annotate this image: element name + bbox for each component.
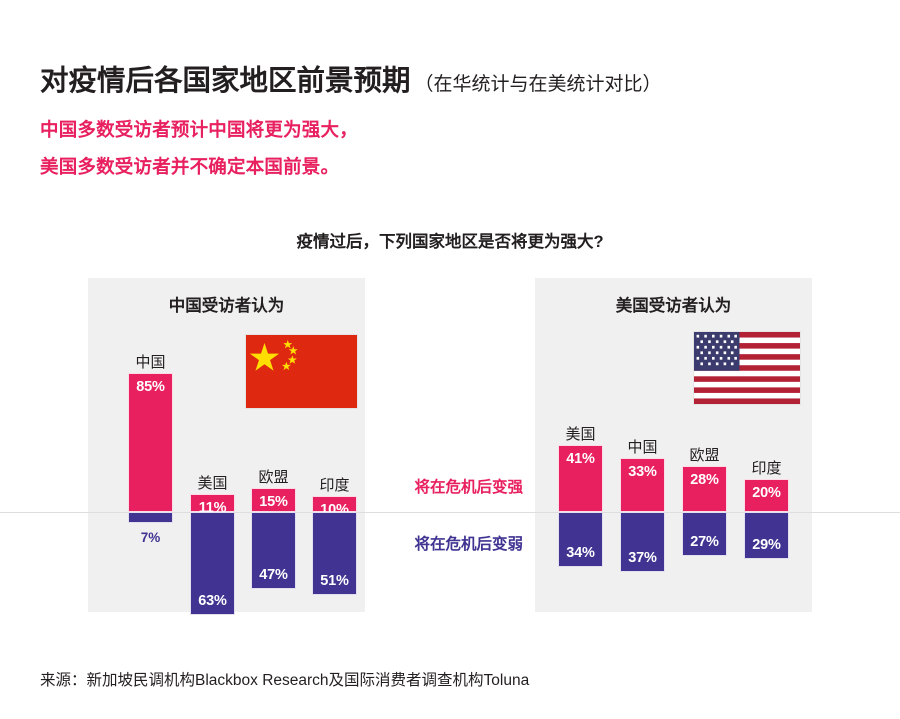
- bar-value-weaker: 63%: [191, 593, 234, 609]
- bar-segment-stronger: 11%: [190, 494, 235, 512]
- bar-value-stronger: 85%: [129, 379, 172, 395]
- bar-category-label: 美国: [197, 472, 227, 493]
- bar-group: 美国11%63%: [190, 494, 235, 615]
- bar-segment-stronger: 85%: [128, 373, 173, 512]
- bar-value-weaker: 27%: [683, 534, 726, 550]
- bar-segment-weaker: 37%: [620, 512, 665, 572]
- source-note: 来源：新加坡民调机构Blackbox Research及国际消费者调查机构Tol…: [40, 668, 529, 690]
- bar-category-label: 中国: [627, 436, 657, 457]
- bar-segment-stronger: 15%: [251, 488, 296, 512]
- bar-segment-weaker: 63%: [190, 512, 235, 615]
- bar-category-label: 印度: [319, 474, 349, 495]
- bar-category-label: 美国: [565, 423, 595, 444]
- bar-group: 欧盟28%27%: [682, 466, 727, 556]
- bar-value-stronger: 20%: [745, 485, 788, 501]
- bar-segment-stronger: 20%: [744, 479, 789, 512]
- bar-value-weaker: 47%: [252, 567, 295, 583]
- bar-segment-stronger: 28%: [682, 466, 727, 512]
- bar-segment-weaker: 34%: [558, 512, 603, 567]
- bar-value-weaker: 34%: [559, 545, 602, 561]
- bar-category-label: 欧盟: [258, 466, 288, 487]
- bar-segment-weaker: 51%: [312, 512, 357, 595]
- panel-title-china: 中国受访者认为: [88, 292, 365, 316]
- bar-segment-weaker: [128, 512, 173, 523]
- legend-item-stronger: 将在危机后变强: [373, 475, 523, 497]
- china-flag-icon: [245, 334, 358, 409]
- legend: 将在危机后变强 将在危机后变弱: [371, 470, 523, 570]
- bar-segment-weaker: 27%: [682, 512, 727, 556]
- bar-group: 印度10%51%: [312, 496, 357, 595]
- bar-segment-weaker: 29%: [744, 512, 789, 559]
- bar-group: 印度20%29%: [744, 479, 789, 559]
- usa-flag-icon: [693, 331, 801, 405]
- bar-value-stronger: 33%: [621, 464, 664, 480]
- bar-segment-stronger: 41%: [558, 445, 603, 512]
- panel-title-usa: 美国受访者认为: [535, 292, 812, 316]
- bar-group: 美国41%34%: [558, 445, 603, 567]
- bar-category-label: 中国: [135, 351, 165, 372]
- bar-value-stronger: 41%: [559, 451, 602, 467]
- bar-value-weaker: 29%: [745, 537, 788, 553]
- bar-group: 欧盟15%47%: [251, 488, 296, 589]
- bar-value-stronger: 28%: [683, 472, 726, 488]
- bar-segment-stronger: 10%: [312, 496, 357, 512]
- legend-item-weaker: 将在危机后变弱: [373, 532, 523, 554]
- chart-area: 中国受访者认为 美国受访者认为: [0, 0, 900, 719]
- bar-value-stronger: 15%: [252, 494, 295, 510]
- bar-category-label: 欧盟: [689, 444, 719, 465]
- bar-segment-weaker: 47%: [251, 512, 296, 589]
- bar-value-weaker-outside: 7%: [141, 530, 161, 545]
- bar-group: 中国33%37%: [620, 458, 665, 572]
- bar-group: 中国85%7%: [128, 373, 173, 523]
- bar-value-weaker: 37%: [621, 550, 664, 566]
- bar-segment-stronger: 33%: [620, 458, 665, 512]
- bar-category-label: 印度: [751, 457, 781, 478]
- bar-value-weaker: 51%: [313, 573, 356, 589]
